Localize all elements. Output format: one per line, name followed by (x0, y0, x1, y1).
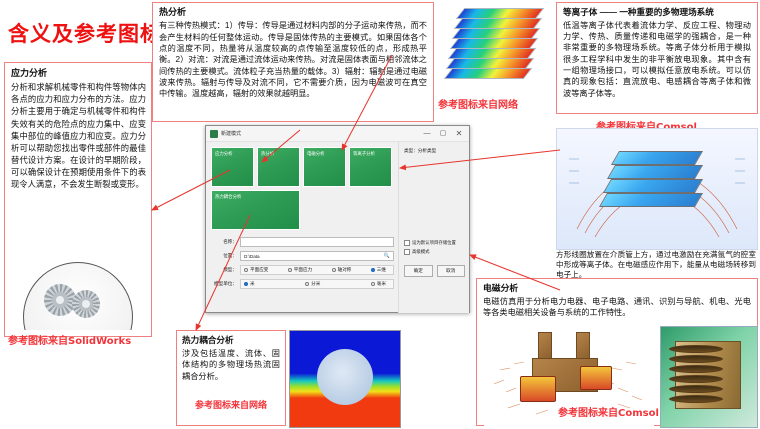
radio-unit-decimeter[interactable]: 分米 (305, 281, 320, 287)
radio-axisymmetric[interactable]: 轴对称 (332, 267, 352, 273)
dialog-body: 应力分析 热分析 电磁分析 等离子分析 热力耦合分析 (206, 142, 469, 313)
radio-plane-stress[interactable]: 平面应力 (288, 267, 312, 273)
solenoid-winding (669, 385, 723, 393)
coil-plate (607, 165, 703, 179)
location-value: D:\Data (244, 254, 260, 259)
card-coupling-body: 涉及包括温度、流体、固体结构的多物理场热流固耦合分析。 (182, 348, 280, 382)
radio-dot-selected (244, 282, 248, 286)
radio-dot-selected (371, 268, 375, 272)
app-icon (210, 130, 218, 138)
card-thermal-analysis: 热分析 有三种传热模式：1）传导：传导是通过材料内部的分子运动来传热，而不会产生… (152, 2, 434, 122)
new-model-dialog[interactable]: 新建模式 — ▢ ✕ 应力分析 热分析 电磁分析 (205, 125, 470, 313)
solenoid-winding (669, 365, 723, 373)
search-icon[interactable]: 🔍 (384, 253, 390, 259)
image-solenoid-em (660, 326, 758, 428)
radio-label: 平面应力 (294, 267, 312, 273)
heatmap-circle (317, 349, 373, 405)
transformer-limb (576, 332, 590, 360)
card-plasma-analysis: 等离子体 —— 一种重要的多物理场系统 低温等离子体代表着流体力学、反应工程、物… (556, 2, 758, 114)
form-row-name: 名称： (211, 236, 394, 248)
radio-label: 平面应变 (250, 267, 268, 273)
radio-dot (288, 268, 292, 272)
plasma-note: 方形线圈放置在介质管上方，通过电激励在充满氩气的腔室中形成等离子体。在电磁感应作… (556, 250, 756, 276)
solenoid-winding (669, 355, 723, 363)
dialog-main-pane: 应力分析 热分析 电磁分析 等离子分析 热力耦合分析 (206, 142, 398, 313)
form-row-model-type: 模型： 平面应变 平面应力 (211, 264, 394, 276)
card-plasma-heading: 等离子体 —— 一种重要的多物理场系统 (563, 7, 751, 18)
coil-plate (611, 151, 703, 165)
coil-plate (603, 179, 703, 193)
radio-dot (305, 282, 309, 286)
tile-thermal-analysis[interactable]: 热分析 (257, 147, 300, 187)
card-coupling-heading: 热力耦合分析 (182, 335, 280, 346)
solenoid-winding (669, 375, 723, 383)
plasma-note-text: 方形线圈放置在介质管上方，通过电激励在充满氩气的腔室中形成等离子体。在电磁感应作… (556, 250, 756, 280)
image-gears-stress (14, 262, 142, 330)
image-plasma-coil-comsol (556, 128, 758, 250)
slide-canvas: 含义及参考图标 应力分析 分析和求解机械零件和构件等物体内各点的应力和应力分布的… (0, 0, 760, 429)
checkbox-label: 设为默认项目存储位置 (412, 240, 456, 246)
unit-radio-group[interactable]: 米 分米 毫米 (240, 279, 394, 289)
gear-hub-right (79, 297, 93, 311)
card-stress-body: 分析和求解机械零件和构件等物体内各点的应力和应力分布的方法。应力分析主要用于确定… (11, 81, 146, 190)
caption-network-coupling: 参考图标来自网络 (182, 398, 280, 411)
radio-dot (244, 268, 248, 272)
tile-label: 电磁分析 (307, 151, 325, 157)
caption-comsol-em: 参考图标来自Comsol (558, 404, 659, 419)
transformer-coil-left (520, 376, 556, 402)
tile-stress-analysis[interactable]: 应力分析 (211, 147, 254, 187)
model-label: 模型： (211, 267, 240, 273)
unit-label: 模型单位： (211, 281, 240, 287)
dialog-options-area: 设为默认项目存储位置 高级模式 确定 取消 (404, 240, 465, 277)
solenoid-winding (669, 345, 723, 353)
dialog-form: 名称： 位置： D:\Data 🔍 模型： (211, 236, 394, 290)
checkbox-box (404, 240, 410, 246)
location-input[interactable]: D:\Data 🔍 (240, 251, 394, 261)
ok-button[interactable]: 确定 (404, 265, 433, 277)
tile-thermal-coupling-analysis[interactable]: 热力耦合分析 (211, 190, 300, 230)
card-plasma-body: 低温等离子体代表着流体力学、反应工程、物理动力学、传热、质量传递和电磁学的强耦合… (563, 20, 751, 99)
image-thermal-slab-stack (436, 4, 554, 90)
dialog-title: 新建模式 (221, 130, 419, 137)
caption-solidworks: 参考图标来自SolidWorks (8, 332, 131, 347)
tile-label: 热力耦合分析 (215, 194, 241, 200)
maximize-icon[interactable]: ▢ (435, 127, 451, 141)
dialog-button-bar[interactable]: 确定 取消 (404, 265, 465, 277)
slab-layer (444, 68, 533, 79)
card-em-heading: 电磁分析 (483, 283, 751, 294)
radio-label: 毫米 (377, 281, 386, 287)
radio-label: 米 (250, 281, 255, 287)
tile-label: 等离子分析 (353, 151, 375, 157)
radio-unit-meter[interactable]: 米 (244, 281, 255, 287)
model-type-radio-group[interactable]: 平面应变 平面应力 轴对称 (240, 265, 394, 275)
radio-three-dimensional[interactable]: 三维 (371, 267, 386, 273)
close-icon[interactable]: ✕ (451, 127, 467, 141)
image-coupling-heatmap (289, 330, 401, 428)
radio-label: 三维 (377, 267, 386, 273)
analysis-type-label: 类型：分析类型 (404, 148, 465, 154)
coil-plate (599, 193, 703, 207)
cancel-button[interactable]: 取消 (437, 265, 466, 277)
card-em-body: 电磁仿真用于分析电力电器、电子电路、通讯、识别与导航、机电、光电等各类电磁相关设… (483, 296, 751, 319)
form-row-model-unit: 模型单位： 米 分米 (211, 278, 394, 290)
transformer-limb (538, 332, 552, 360)
dialog-title-bar[interactable]: 新建模式 — ▢ ✕ (206, 126, 469, 142)
radio-plane-strain[interactable]: 平面应变 (244, 267, 268, 273)
page-title: 含义及参考图标 (8, 18, 162, 48)
form-row-location: 位置： D:\Data 🔍 (211, 250, 394, 262)
transformer-coil-right (580, 366, 612, 390)
dialog-side-pane: 类型：分析类型 设为默认项目存储位置 高级模式 确定 取消 (398, 142, 469, 313)
window-controls[interactable]: — ▢ ✕ (419, 127, 467, 141)
solenoid-winding (669, 395, 723, 403)
name-input[interactable] (240, 237, 394, 247)
minimize-icon[interactable]: — (419, 127, 435, 141)
analysis-tile-grid[interactable]: 应力分析 热分析 电磁分析 等离子分析 热力耦合分析 (211, 147, 394, 230)
radio-label: 分米 (311, 281, 320, 287)
name-label: 名称： (211, 239, 240, 245)
tile-plasma-analysis[interactable]: 等离子分析 (349, 147, 392, 187)
radio-dot (332, 268, 336, 272)
radio-unit-millimeter[interactable]: 毫米 (371, 281, 386, 287)
checkbox-default-location[interactable]: 设为默认项目存储位置 (404, 240, 465, 246)
tile-label: 热分析 (261, 151, 274, 157)
location-label: 位置： (211, 253, 240, 259)
tile-label: 应力分析 (215, 151, 233, 157)
checkbox-label: 高级模式 (412, 249, 430, 255)
checkbox-box (404, 249, 410, 255)
caption-network-top: 参考图标来自网络 (438, 96, 518, 111)
card-stress-heading: 应力分析 (11, 68, 146, 79)
tile-electromagnetic-analysis[interactable]: 电磁分析 (303, 147, 346, 187)
radio-dot (371, 282, 375, 286)
gear-hub-left (52, 292, 68, 308)
radio-label: 轴对称 (338, 267, 352, 273)
card-thermal-coupling: 热力耦合分析 涉及包括温度、流体、固体结构的多物理场热流固耦合分析。 参考图标来… (176, 330, 286, 426)
card-thermal-heading: 热分析 (159, 7, 427, 18)
checkbox-advanced-mode[interactable]: 高级模式 (404, 249, 465, 255)
card-thermal-body: 有三种传热模式：1）传导：传导是通过材料内部的分子运动来传热，而不会产生材料的任… (159, 20, 427, 99)
